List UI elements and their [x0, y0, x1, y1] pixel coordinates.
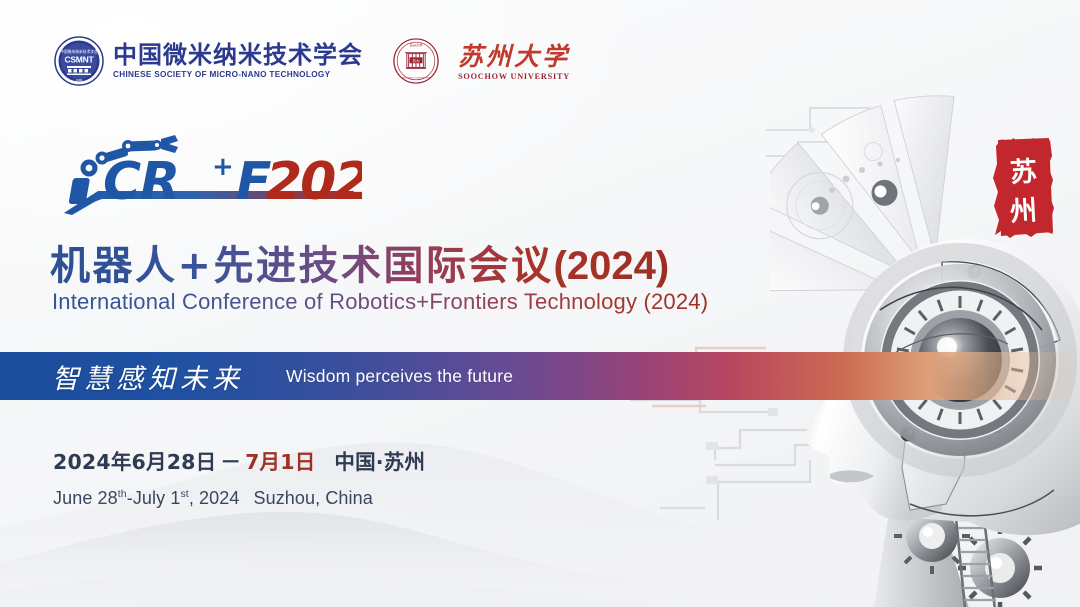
title-cn-main: 机器人+先进技术国际会议 [50, 243, 554, 289]
event-date-cn: 2024年6月28日－7月1日中国·苏州 [53, 452, 425, 473]
soochow-university-circular-seal-icon: 苏州大学 苏大 SOOCHOW UNIVERSITY [393, 38, 439, 84]
sponsor-logos: 中国微米纳米技术学会 CSMNT 1989 中国微米纳米技术学会 CHINESE… [54, 36, 580, 86]
svg-text:中国微米纳米技术学会: 中国微米纳米技术学会 [60, 49, 98, 54]
date-en-ordinal-2: st [180, 488, 188, 500]
svg-text:+: + [212, 152, 234, 182]
event-date-en: June 28th-July 1st, 2024Suzhou, China [53, 489, 425, 507]
event-location-en: Suzhou, China [253, 488, 372, 508]
event-details: 2024年6月28日－7月1日中国·苏州 June 28th-July 1st,… [53, 452, 425, 507]
society-logo: 中国微米纳米技术学会 CSMNT 1989 中国微米纳米技术学会 CHINESE… [54, 36, 363, 86]
event-location-cn: 中国·苏州 [334, 450, 425, 474]
page-title-cn: 机器人+先进技术国际会议(2024) [50, 233, 669, 291]
slogan-banner: 智慧感知未来 Wisdom perceives the future [0, 352, 1080, 400]
conference-poster: 苏 州 [0, 0, 1080, 607]
page-title-en: International Conference of Robotics+Fro… [52, 289, 708, 315]
date-start-cn: 2024年6月28日 [53, 450, 216, 474]
society-name-cn: 中国微米纳米技术学会 [113, 43, 363, 67]
date-en-ordinal-1: th [118, 488, 127, 500]
robot-head-profile-icon [760, 218, 1080, 607]
svg-text:苏: 苏 [1009, 156, 1038, 188]
title-cn-year: (2024) [554, 244, 670, 288]
svg-text:苏州大学: 苏州大学 [410, 42, 424, 47]
svg-text:苏大: 苏大 [412, 58, 420, 63]
svg-text:州: 州 [1009, 195, 1038, 227]
circuit-trace-icon [620, 390, 880, 590]
university-name-cn-calligraphy: 苏州大学 [448, 41, 580, 71]
circuit-trace-icon [760, 90, 960, 290]
csmnt-circular-seal-icon: 中国微米纳米技术学会 CSMNT 1989 [54, 36, 104, 86]
society-name-en: CHINESE SOCIETY OF MICRO-NANO TECHNOLOGY [113, 71, 363, 79]
svg-text:SOOCHOW UNIVERSITY: SOOCHOW UNIVERSITY [402, 76, 430, 79]
icrf-logo: CR + F 2024 [62, 133, 362, 219]
suzhou-red-seal-icon: 苏 州 [993, 136, 1055, 240]
slogan-en: Wisdom perceives the future [286, 366, 513, 387]
date-dash: － [220, 450, 241, 474]
date-en-suffix: , 2024 [189, 488, 240, 508]
date-end-cn: 7月1日 [245, 450, 315, 474]
date-en-prefix: June 28 [53, 488, 118, 508]
svg-text:2024: 2024 [266, 152, 362, 212]
svg-text:1989: 1989 [76, 78, 83, 82]
svg-text:CR: CR [103, 152, 179, 212]
slogan-cn: 智慧感知未来 [52, 357, 244, 396]
university-logo: 苏州大学 苏大 SOOCHOW UNIVERSITY 苏州大学 SOOCHOW … [393, 38, 580, 84]
svg-text:CSMNT: CSMNT [65, 55, 95, 65]
date-en-mid: -July 1 [127, 488, 181, 508]
svg-text:苏州大学: 苏州大学 [458, 42, 570, 71]
university-name-en: SOOCHOW UNIVERSITY [448, 73, 580, 81]
